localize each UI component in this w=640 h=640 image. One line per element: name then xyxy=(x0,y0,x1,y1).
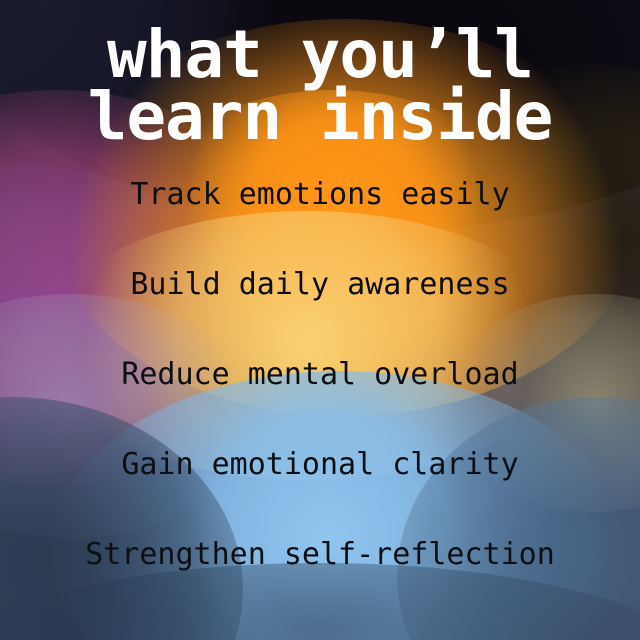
page-title-line-2: learn inside xyxy=(0,86,640,148)
list-item: Build daily awareness xyxy=(0,266,640,356)
list-item: Track emotions easily xyxy=(0,176,640,266)
page-title: what you’ll learn inside xyxy=(0,24,640,148)
list-item: Reduce mental overload xyxy=(0,356,640,446)
list-item: Strengthen self-reflection xyxy=(0,536,640,626)
page-title-line-1: what you’ll xyxy=(0,24,640,86)
poster-content: what you’ll learn inside Track emotions … xyxy=(0,0,640,640)
feature-list: Track emotions easily Build daily awaren… xyxy=(0,176,640,626)
poster-canvas: what you’ll learn inside Track emotions … xyxy=(0,0,640,640)
list-item: Gain emotional clarity xyxy=(0,446,640,536)
